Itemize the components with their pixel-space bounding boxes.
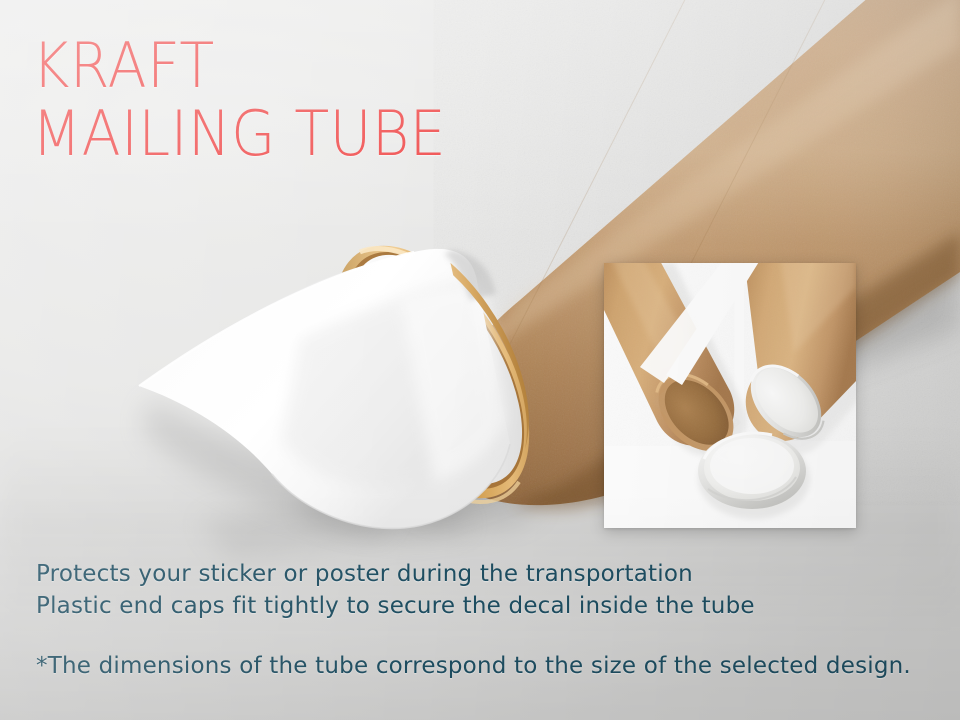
product-poster: KRAFT MAILING TUBE [0, 0, 960, 720]
poster-vignette [0, 0, 960, 720]
